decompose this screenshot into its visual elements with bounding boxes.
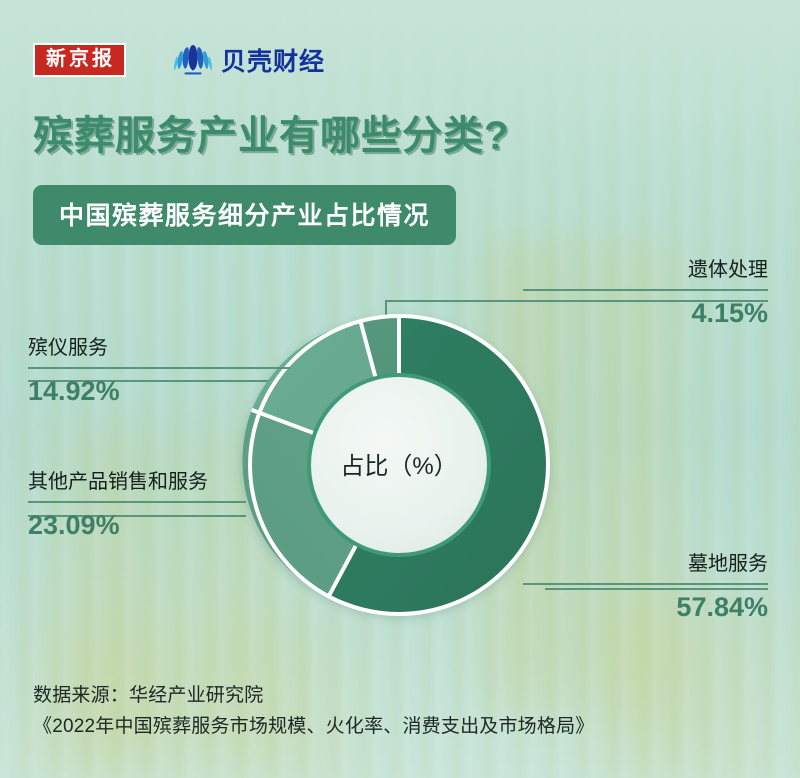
callout-name: 其他产品销售和服务: [28, 470, 246, 494]
page-title: 殡葬服务产业有哪些分类?: [33, 103, 509, 161]
callout-name: 遗体处理: [523, 258, 768, 282]
callout-name: 墓地服务: [523, 552, 768, 576]
callout-grave-service: 墓地服务 57.84%: [523, 552, 768, 623]
publisher-badge: 新京报: [33, 43, 126, 77]
shell-icon: [174, 43, 212, 77]
header-logos: 新京报 贝壳财经: [33, 42, 325, 78]
callout-rule: [28, 501, 246, 503]
callout-body-handling: 遗体处理 4.15%: [523, 258, 768, 329]
callout-rule: [523, 289, 768, 291]
source-line-2: 《2022年中国殡葬服务市场规模、火化率、消费支出及市场格局》: [33, 711, 594, 742]
callout-funeral-service: 殡仪服务 14.92%: [28, 336, 290, 407]
subtitle-text: 中国殡葬服务细分产业占比情况: [59, 196, 430, 232]
brand-name: 贝壳财经: [221, 42, 325, 78]
infographic-page: 新京报 贝壳财经 殡葬服务产业有哪些分类? 中国殡葬服务细分产业占比情况: [0, 0, 800, 778]
subtitle-banner: 中国殡葬服务细分产业占比情况: [33, 185, 456, 245]
callout-rule: [523, 583, 768, 585]
callout-rule: [28, 367, 290, 369]
callout-other-products: 其他产品销售和服务 23.09%: [28, 470, 246, 541]
source-line-1: 数据来源：华经产业研究院: [33, 680, 594, 711]
chart-center-label: 占比（%）: [340, 453, 457, 480]
source-note: 数据来源：华经产业研究院 《2022年中国殡葬服务市场规模、火化率、消费支出及市…: [33, 680, 594, 743]
callout-percent: 14.92%: [28, 375, 290, 407]
brand-logo: 贝壳财经: [174, 42, 325, 78]
callout-percent: 23.09%: [28, 509, 246, 541]
callout-name: 殡仪服务: [28, 336, 290, 360]
callout-percent: 57.84%: [523, 591, 768, 623]
callout-percent: 4.15%: [523, 297, 768, 329]
